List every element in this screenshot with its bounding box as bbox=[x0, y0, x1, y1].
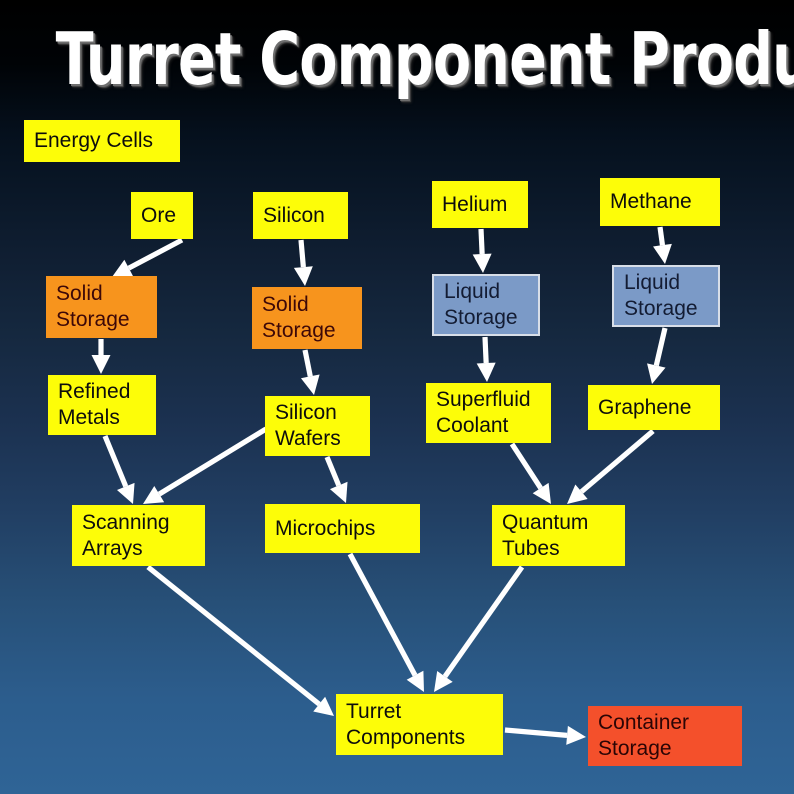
node-methane[interactable]: Methane bbox=[600, 178, 720, 226]
arrow-turret_components-to-container_storage bbox=[505, 726, 586, 745]
diagram-canvas: Turret Component Production Energy Cells… bbox=[0, 0, 794, 794]
node-label: Silicon Wafers bbox=[275, 400, 362, 452]
node-label: Liquid Storage bbox=[624, 270, 710, 322]
node-ore[interactable]: Ore bbox=[131, 192, 193, 239]
arrow-silicon_wafers-to-microchips bbox=[325, 456, 348, 503]
node-turret_components[interactable]: Turret Components bbox=[336, 694, 503, 755]
node-label: Quantum Tubes bbox=[502, 510, 617, 562]
node-label: Helium bbox=[442, 192, 520, 218]
node-quantum_tubes[interactable]: Quantum Tubes bbox=[492, 505, 625, 566]
node-label: Liquid Storage bbox=[444, 279, 530, 331]
arrow-microchips-to-turret_components bbox=[348, 553, 424, 692]
arrow-ore-to-solid_storage_1 bbox=[112, 238, 183, 277]
node-container_storage[interactable]: Container Storage bbox=[588, 706, 742, 766]
node-label: Turret Components bbox=[346, 699, 495, 751]
arrow-graphene-to-quantum_tubes bbox=[567, 429, 655, 504]
node-label: Energy Cells bbox=[34, 128, 172, 154]
node-label: Solid Storage bbox=[56, 281, 149, 333]
node-label: Methane bbox=[610, 189, 712, 215]
node-label: Graphene bbox=[598, 395, 712, 421]
arrow-scanning_arrays-to-turret_components bbox=[146, 565, 334, 716]
arrow-liquid_storage_1-to-superfluid bbox=[477, 337, 496, 382]
arrow-solid_storage_1-to-refined_metals bbox=[92, 339, 111, 374]
node-refined_metals[interactable]: Refined Metals bbox=[48, 375, 156, 435]
arrow-helium-to-liquid_storage_1 bbox=[473, 229, 492, 273]
node-label: Scanning Arrays bbox=[82, 510, 197, 562]
node-label: Microchips bbox=[275, 516, 412, 542]
arrow-liquid_storage_2-to-graphene bbox=[647, 327, 667, 384]
arrow-silicon-to-solid_storage_2 bbox=[294, 240, 313, 286]
node-solid_storage_1[interactable]: Solid Storage bbox=[46, 276, 157, 338]
node-energy_cells[interactable]: Energy Cells bbox=[24, 120, 180, 162]
node-label: Refined Metals bbox=[58, 379, 148, 431]
node-label: Solid Storage bbox=[262, 292, 354, 344]
node-microchips[interactable]: Microchips bbox=[265, 504, 420, 553]
arrow-silicon_wafers-to-scanning_arrays bbox=[143, 427, 267, 504]
node-liquid_storage_1[interactable]: Liquid Storage bbox=[432, 274, 540, 336]
node-label: Container Storage bbox=[598, 710, 734, 762]
node-label: Ore bbox=[141, 203, 185, 229]
node-scanning_arrays[interactable]: Scanning Arrays bbox=[72, 505, 205, 566]
node-solid_storage_2[interactable]: Solid Storage bbox=[252, 287, 362, 349]
node-graphene[interactable]: Graphene bbox=[588, 385, 720, 430]
node-liquid_storage_2[interactable]: Liquid Storage bbox=[612, 265, 720, 327]
node-silicon_wafers[interactable]: Silicon Wafers bbox=[265, 396, 370, 456]
arrow-superfluid-to-quantum_tubes bbox=[510, 443, 551, 504]
node-label: Silicon bbox=[263, 203, 340, 229]
node-label: Superfluid Coolant bbox=[436, 387, 543, 439]
page-title: Turret Component Production bbox=[56, 20, 739, 98]
arrow-solid_storage_2-to-silicon_wafers bbox=[301, 349, 320, 395]
node-helium[interactable]: Helium bbox=[432, 181, 528, 228]
arrow-methane-to-liquid_storage_2 bbox=[653, 227, 672, 264]
arrow-quantum_tubes-to-turret_components bbox=[434, 566, 524, 692]
node-superfluid[interactable]: Superfluid Coolant bbox=[426, 383, 551, 443]
node-silicon[interactable]: Silicon bbox=[253, 192, 348, 239]
arrow-refined_metals-to-scanning_arrays bbox=[103, 435, 135, 504]
